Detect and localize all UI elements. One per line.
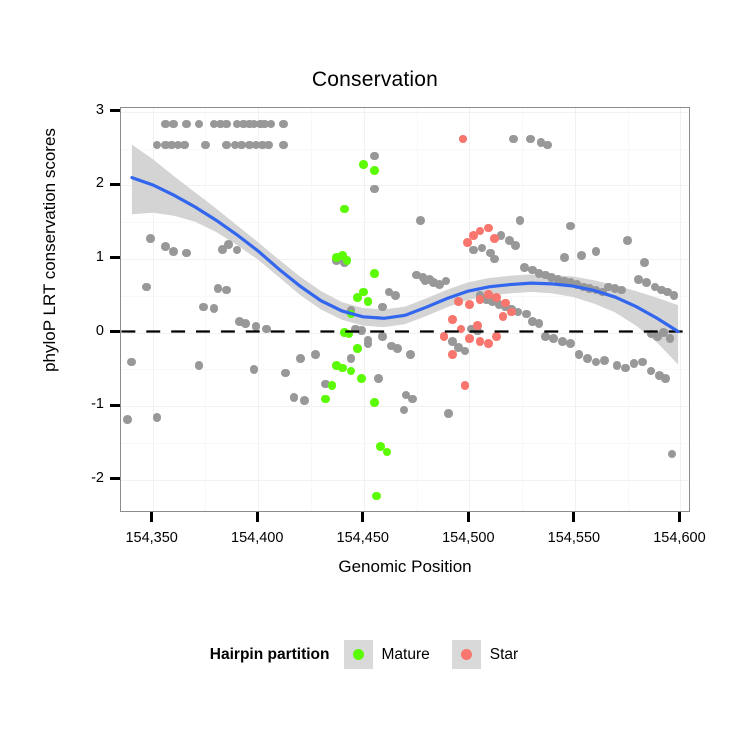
x-tick-label: 154,500 <box>423 530 513 546</box>
x-tick <box>467 512 470 522</box>
plot-area <box>121 108 689 511</box>
y-tick-label: 0 <box>76 323 104 339</box>
y-tick <box>110 330 120 333</box>
legend-key-star <box>452 640 481 669</box>
legend-label-mature: Mature <box>382 646 430 664</box>
y-tick-label: 3 <box>76 102 104 118</box>
x-tick <box>256 512 259 522</box>
y-tick-label: 2 <box>76 175 104 191</box>
y-axis-label: phyloP LRT conservation scores <box>40 50 60 450</box>
y-tick <box>110 404 120 407</box>
plot-panel <box>120 107 690 512</box>
legend-item-mature[interactable]: Mature <box>344 640 452 669</box>
x-tick-label: 154,450 <box>318 530 408 546</box>
loess-curve <box>132 178 678 332</box>
legend-key-mature <box>344 640 373 669</box>
x-tick <box>678 512 681 522</box>
x-tick <box>361 512 364 522</box>
x-tick <box>150 512 153 522</box>
legend-dot-star <box>461 649 472 660</box>
y-tick-label: -2 <box>76 470 104 486</box>
trend-line <box>121 108 689 511</box>
y-tick <box>110 109 120 112</box>
x-tick-label: 154,600 <box>634 530 724 546</box>
page-title: Conservation <box>0 68 750 92</box>
y-tick <box>110 477 120 480</box>
legend-label-star: Star <box>490 646 518 664</box>
legend-item-star[interactable]: Star <box>452 640 540 669</box>
x-tick-label: 154,350 <box>107 530 197 546</box>
legend-dot-mature <box>353 649 364 660</box>
x-tick <box>572 512 575 522</box>
legend-title: Hairpin partition <box>210 646 330 664</box>
x-axis-label: Genomic Position <box>120 557 690 577</box>
y-tick <box>110 256 120 259</box>
y-tick-label: 1 <box>76 249 104 265</box>
x-tick-label: 154,400 <box>212 530 302 546</box>
y-tick <box>110 183 120 186</box>
y-tick-label: -1 <box>76 396 104 412</box>
conservation-scatter-chart: Conservation phyloP LRT conservation sco… <box>0 0 750 750</box>
x-tick-label: 154,550 <box>529 530 619 546</box>
legend: Hairpin partition Mature Star <box>0 640 750 669</box>
